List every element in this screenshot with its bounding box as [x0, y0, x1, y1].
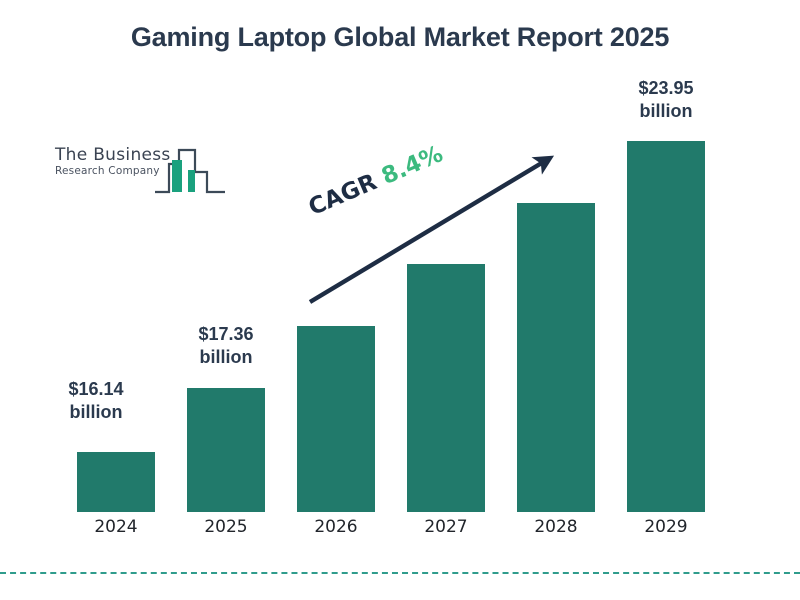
bar-value-label-2024: $16.14 billion — [46, 378, 146, 424]
x-tick-2025: 2025 — [187, 517, 265, 537]
bar-2025 — [187, 388, 265, 512]
bar-chart-plot: $16.14 billion $17.36 billion $23.95 bil… — [0, 0, 800, 600]
x-tick-2027: 2027 — [407, 517, 485, 537]
x-tick-2028: 2028 — [517, 517, 595, 537]
bar-value-amount-2029: $23.95 — [616, 77, 716, 100]
x-tick-2026: 2026 — [297, 517, 375, 537]
bar-2029 — [627, 141, 705, 512]
cagr-annotation: CAGR 8.4% — [305, 141, 447, 221]
bar-2027 — [407, 264, 485, 512]
bar-value-unit-2024: billion — [46, 401, 146, 424]
bar-value-amount-2025: $17.36 — [176, 323, 276, 346]
bar-value-amount-2024: $16.14 — [46, 378, 146, 401]
cagr-value: 8.4% — [378, 141, 447, 190]
bar-value-label-2025: $17.36 billion — [176, 323, 276, 369]
bar-value-label-2029: $23.95 billion — [616, 77, 716, 123]
cagr-label: CAGR — [305, 169, 381, 221]
footer-divider — [0, 572, 800, 574]
bar-value-unit-2025: billion — [176, 346, 276, 369]
bar-value-unit-2029: billion — [616, 100, 716, 123]
x-tick-2029: 2029 — [627, 517, 705, 537]
bar-2028 — [517, 203, 595, 512]
bar-2026 — [297, 326, 375, 512]
x-tick-2024: 2024 — [77, 517, 155, 537]
bar-2024 — [77, 452, 155, 512]
